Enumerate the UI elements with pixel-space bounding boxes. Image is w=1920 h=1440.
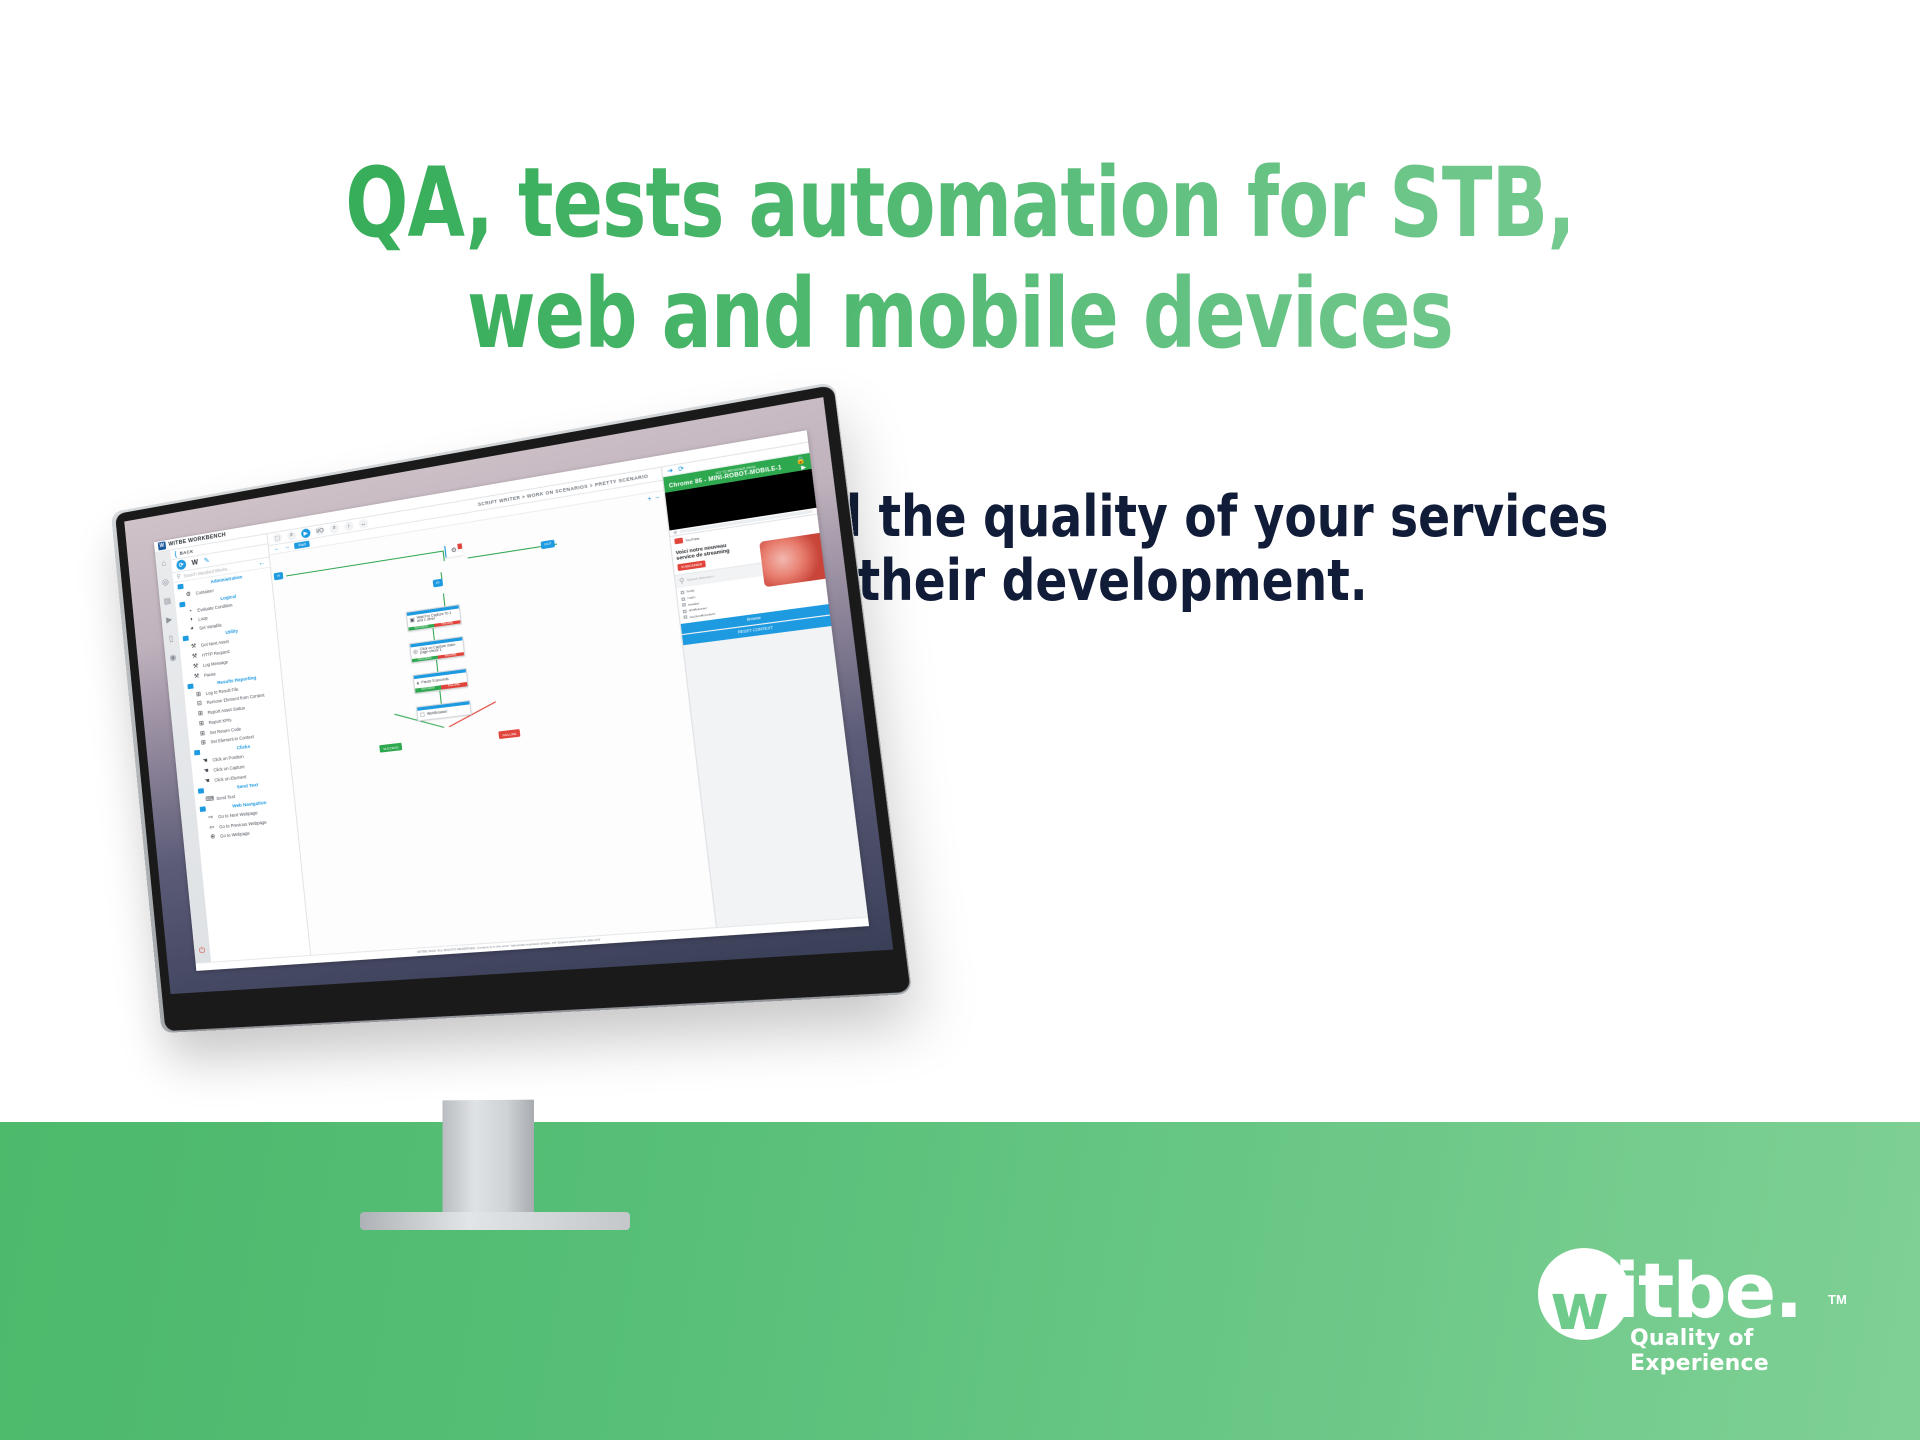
logo-trademark: TM [1828,1292,1847,1307]
imac-monitor: W WITBE WORKBENCH ⌂ ◎ ▤ ▶ ▯ ◉ ⏻ [120,500,960,1220]
chevron-left-icon: ⟨ [174,550,177,558]
tab-flow-mode[interactable]: ⟳ [176,559,187,571]
target-icon[interactable]: ◎ [161,577,170,587]
loop-icon: ◑ [187,617,194,624]
block-label: Go to Webpage [220,831,250,839]
report-icon: ⊞ [198,719,205,727]
headline-line-2: web and mobile devices [134,259,1785,370]
search-icon: ⚲ [679,577,685,586]
category-icon [187,683,193,689]
expand-icon[interactable] [683,616,687,620]
category-icon [177,583,183,589]
refresh-icon[interactable]: ⟳ [678,465,685,474]
banner-canvas: QA, tests automation for STB, web and mo… [0,0,1920,1440]
flow-canvas[interactable]: + − [270,491,716,954]
click-icon: ☚ [202,767,210,775]
flow-out-chip[interactable]: OUT [540,540,555,549]
subscribe-button[interactable]: S'ABONNER [677,560,706,571]
flow-edge [286,551,443,576]
logo-w-letter: w [1550,1278,1605,1338]
click-icon: ☚ [203,777,211,785]
browser-icon: ☐ [420,712,426,719]
flow-in-chip[interactable]: IN [433,579,443,587]
tools-icon: ⚒ [193,672,200,680]
back-label: BACK [180,549,194,556]
tree-label: section#content [689,611,715,619]
condition-icon: ◔ [187,608,194,615]
mobile-icon[interactable]: ▯ [166,634,175,644]
report-icon: ⊞ [195,690,202,698]
run-icon[interactable]: ▶ [301,528,311,539]
report-icon: ⊟ [196,700,203,708]
headline-line-1: QA, tests automation for STB, [134,148,1785,259]
keyboard-icon: ⌨ [205,795,213,803]
zoom-out-icon[interactable]: − [655,495,660,502]
play-icon[interactable]: ▶ [801,464,807,472]
tab-edit-mode[interactable]: ✎ [203,556,209,565]
upload-icon[interactable]: ↑ [344,521,354,532]
flow-block-pause[interactable]: ⏸ Pause 5 seconds SUCCESS FAILURE [412,668,468,693]
logout-icon[interactable]: ⏻ [197,946,207,956]
variable-icon: ◕ [188,626,195,633]
tools-icon: ⚒ [191,652,198,660]
block-label: Container [195,588,214,596]
monitor-stand-base [360,1212,630,1230]
arrow-right-icon[interactable]: → [284,544,291,551]
flow-in-chip[interactable]: IN [274,572,284,580]
expand-icon[interactable] [682,603,686,607]
monitor-bezel: W WITBE WORKBENCH ⌂ ◎ ▤ ▶ ▯ ◉ ⏻ [115,385,911,1031]
youtube-label: YouTube [685,536,700,543]
record-icon[interactable]: ◉ [168,652,177,662]
monitor-stand-neck [442,1100,533,1221]
zoom-in-icon[interactable]: + [647,496,652,503]
tools-icon: ⚒ [190,643,197,651]
arrow-left-icon[interactable]: ← [274,546,281,553]
browser-icon: ⇦ [208,823,216,831]
element-search-input[interactable]: Search Element... [687,574,717,583]
expand-icon[interactable] [681,597,685,601]
block-label: Loop [198,615,208,621]
flow-terminal-failure[interactable]: FAILURE [498,729,521,739]
video-icon[interactable]: ▶ [164,615,173,625]
category-icon [199,806,205,812]
flow-block-wait-capture[interactable]: ▣ Wait For Capture To 1 and 1 other SUCC… [406,604,462,632]
logo-tagline: Quality of Experience [1630,1326,1868,1376]
browser-dot-icon [673,531,677,535]
click-icon: ◎ [413,649,418,656]
node-label: WebBrowser [427,710,448,716]
youtube-icon [674,538,683,545]
click-icon: ☚ [201,757,209,765]
arrow-right-icon[interactable]: ➜ [667,466,674,475]
start-node-chip[interactable]: Start [294,541,310,550]
category-icon [179,601,185,607]
report-icon: ⊞ [197,710,204,718]
tab-witbe-mode[interactable]: W [191,559,198,567]
collapse-panel-icon[interactable]: ← [258,559,266,567]
browser-icon: ⇨ [207,813,215,821]
page-title: QA, tests automation for STB, web and mo… [134,148,1785,371]
report-icon: ⊞ [200,739,207,747]
category-icon [198,788,204,794]
home-icon[interactable]: ⌂ [159,558,168,568]
browser-icon: ⊕ [209,833,217,841]
app-logo-icon: W [158,541,166,550]
expand-icon[interactable] [680,591,684,595]
flow-block-click-capture[interactable]: ◎ Click on Capture main-page-check 1 SUC… [409,636,465,663]
search-icon: ⚲ [176,573,181,581]
category-icon [194,750,200,756]
tools-icon: ⚒ [192,662,199,670]
block-label: Pause [204,671,216,678]
promo-artwork [759,533,825,587]
save-icon[interactable]: ⬚ [273,533,283,544]
flow-terminal-success[interactable]: SUCCESS [379,743,403,753]
capture-icon: ▣ [409,617,415,624]
zoom-fit-icon[interactable]: ⌕ [287,531,297,542]
zoom-controls: + − [647,495,660,504]
flow-gate-node[interactable]: ⚙ [444,543,463,557]
category-icon [182,636,188,642]
io-icon[interactable]: I/O [315,526,325,537]
scenario-canvas-panel: ⬚ ⌕ ▶ I/O ⌕ ↑ ↔ SCRIPT WRITER > WORK ON … [267,468,715,955]
block-label: Report KPIs [208,717,231,725]
pause-icon: ⏸ [416,680,419,687]
expand-icon[interactable]: ↔ [358,518,368,529]
folder-icon[interactable]: ▤ [163,596,172,606]
gear-icon: ⚙ [185,590,192,598]
report-icon: ⊞ [199,729,206,737]
expand-icon[interactable] [683,609,687,613]
block-label: Send Text [216,794,235,801]
search-icon[interactable]: ⌕ [329,523,339,534]
monitor-screen: W WITBE WORKBENCH ⌂ ◎ ▤ ▶ ▯ ◉ ⏻ [124,397,893,994]
witbe-logo: w itbe. TM Quality of Experience [1538,1248,1868,1358]
logo-wordmark: itbe. [1614,1250,1801,1332]
